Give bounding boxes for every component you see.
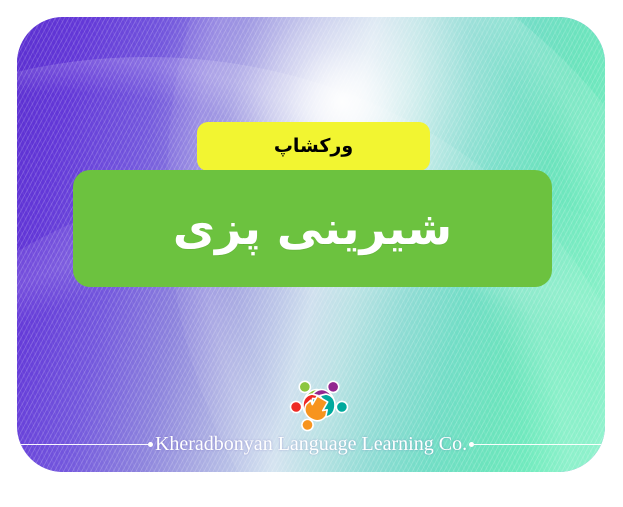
footer-brand-bar: Kheradbonyan Language Learning Co. — [17, 431, 605, 457]
footer-rule-left — [17, 444, 148, 445]
main-title-label: شیرینی پزی — [173, 202, 452, 255]
brand-name-label: Kheradbonyan Language Learning Co. — [153, 434, 469, 454]
workshop-badge: ورکشاپ — [197, 122, 430, 171]
footer-rule-right — [474, 444, 605, 445]
main-title-card: شیرینی پزی — [73, 170, 552, 287]
people-circle-logo — [282, 372, 356, 434]
presentation-slide: ورکشاپ شیرینی پزی — [17, 17, 605, 472]
workshop-badge-label: ورکشاپ — [274, 137, 353, 156]
